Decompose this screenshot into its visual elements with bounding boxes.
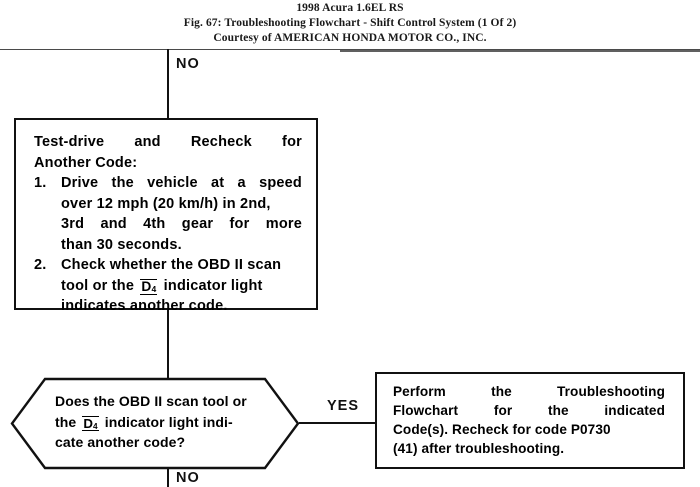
branch-label-yes: YES bbox=[327, 398, 359, 414]
test-drive-title: Test-drive and Recheck for Another Code: bbox=[34, 132, 306, 173]
connector-top-vertical bbox=[167, 49, 169, 119]
d4-indicator-icon: D4 bbox=[140, 279, 157, 295]
step-1-number: 1. bbox=[34, 173, 54, 194]
step-2-line-3: indicates another code. bbox=[61, 298, 228, 314]
d4-indicator-letter: D bbox=[83, 416, 93, 431]
decision-line-2-suffix: indicator light indi- bbox=[105, 414, 233, 430]
d4-indicator-subscript: 4 bbox=[93, 422, 98, 431]
branch-label-no-bottom: NO bbox=[176, 470, 200, 486]
header-title-courtesy: Courtesy of AMERICAN HONDA MOTOR CO., IN… bbox=[0, 31, 700, 46]
header-title-vehicle: 1998 Acura 1.6EL RS bbox=[0, 0, 700, 16]
step-2-line-2-suffix: indicator light bbox=[164, 278, 263, 294]
test-drive-steps: 1. Drive the vehicle at a speed over 12 … bbox=[34, 173, 306, 317]
test-drive-step-2: 2. Check whether the OBD II scan tool or… bbox=[34, 255, 306, 317]
test-drive-step-1: 1. Drive the vehicle at a speed over 12 … bbox=[34, 173, 306, 255]
d4-indicator-subscript: 4 bbox=[151, 284, 156, 294]
process-box-test-drive-text: Test-drive and Recheck for Another Code:… bbox=[34, 132, 306, 317]
decision-line-3: cate another code? bbox=[55, 434, 185, 450]
step-1-line-3: 3rd and 4th gear for more bbox=[61, 214, 302, 235]
step-2-line-2-prefix: tool or the bbox=[61, 278, 134, 294]
step-1-line-1: Drive the vehicle at a speed bbox=[61, 173, 302, 194]
d4-indicator-icon: D4 bbox=[82, 416, 98, 432]
step-2-number: 2. bbox=[34, 255, 54, 276]
header-title-figure: Fig. 67: Troubleshooting Flowchart - Shi… bbox=[0, 16, 700, 31]
perform-line-4: (41) after troubleshooting. bbox=[393, 441, 564, 456]
header-divider bbox=[0, 49, 700, 50]
step-2-line-1: Check whether the OBD II scan bbox=[61, 257, 281, 273]
step-1-line-2: over 12 mph (20 km/h) in 2nd, bbox=[61, 196, 271, 212]
document-header: 1998 Acura 1.6EL RS Fig. 67: Troubleshoo… bbox=[0, 0, 700, 46]
process-box-perform-text: Perform the Troubleshooting Flowchart fo… bbox=[393, 382, 673, 458]
step-1-line-4: than 30 seconds. bbox=[61, 237, 182, 253]
test-drive-title-line2: Another Code: bbox=[34, 155, 137, 171]
connector-box-to-decision bbox=[167, 309, 169, 379]
decision-line-2-prefix: the bbox=[55, 414, 76, 430]
process-box-perform-troubleshooting: Perform the Troubleshooting Flowchart fo… bbox=[375, 372, 685, 469]
process-box-test-drive: Test-drive and Recheck for Another Code:… bbox=[14, 118, 318, 310]
decision-node-another-code: Does the OBD II scan tool or the D4 indi… bbox=[10, 377, 300, 470]
perform-line-1: Perform the Troubleshooting bbox=[393, 382, 665, 401]
decision-line-1: Does the OBD II scan tool or bbox=[55, 393, 247, 409]
test-drive-title-line1: Test-drive and Recheck for bbox=[34, 132, 302, 153]
d4-indicator-letter: D bbox=[141, 279, 151, 294]
connector-decision-to-bottom bbox=[167, 468, 169, 487]
perform-line-2: Flowchart for the indicated bbox=[393, 401, 665, 420]
branch-label-no-top: NO bbox=[176, 56, 200, 72]
decision-node-text: Does the OBD II scan tool or the D4 indi… bbox=[55, 391, 293, 453]
connector-decision-to-perform bbox=[299, 422, 376, 424]
perform-line-3: Code(s). Recheck for code P0730 bbox=[393, 422, 611, 437]
